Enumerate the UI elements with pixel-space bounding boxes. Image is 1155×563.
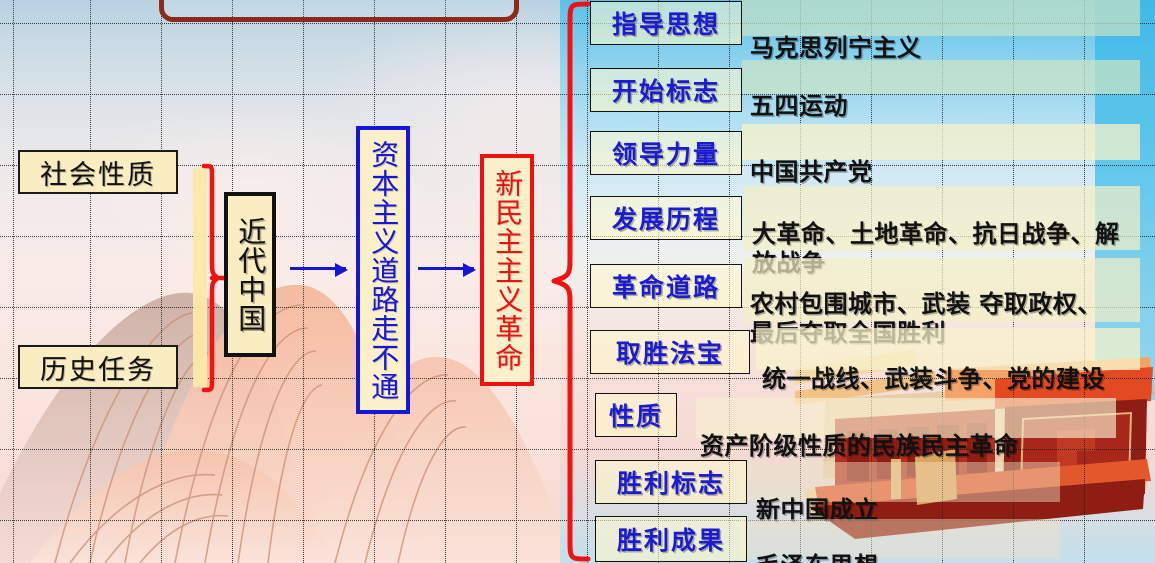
node-capitalism-label: 资本主义道路走不通 bbox=[369, 140, 398, 401]
row-label-text: 开始标志 bbox=[612, 72, 720, 108]
row-label-6[interactable]: 性质 bbox=[595, 393, 677, 437]
left-red-brace bbox=[186, 162, 226, 394]
node-revolution-label: 新民主主义革命 bbox=[493, 169, 522, 372]
row-label-text: 取胜法宝 bbox=[616, 334, 724, 370]
node-new-democratic-revolution[interactable]: 新民主主义革命 bbox=[480, 154, 534, 386]
node-modern-china-label: 近代中国 bbox=[236, 217, 265, 333]
row-content-1: 五四运动 bbox=[750, 64, 1140, 121]
row-label-7[interactable]: 胜利标志 bbox=[595, 460, 747, 504]
left-item-label: 历史任务 bbox=[40, 348, 156, 387]
row-label-text: 胜利成果 bbox=[617, 521, 725, 557]
top-cropped-rounded-box bbox=[159, 0, 519, 22]
node-capitalism-road-blocked[interactable]: 资本主义道路走不通 bbox=[356, 126, 410, 414]
arrow-capitalism-to-revolution bbox=[418, 267, 474, 270]
row-label-5[interactable]: 取胜法宝 bbox=[590, 330, 750, 374]
row-label-0[interactable]: 指导思想 bbox=[590, 1, 742, 45]
row-label-text: 胜利标志 bbox=[617, 464, 725, 500]
left-item-label: 社会性质 bbox=[40, 153, 156, 192]
arrow-modern-to-capitalism bbox=[290, 267, 346, 270]
mountain-illustration bbox=[0, 233, 560, 563]
row-content-0: 马克思列宁主义 bbox=[750, 6, 1140, 63]
row-content-2: 中国共产党 bbox=[750, 130, 1140, 187]
row-label-2[interactable]: 领导力量 bbox=[590, 131, 742, 175]
row-label-4[interactable]: 革命道路 bbox=[590, 264, 742, 308]
row-label-text: 性质 bbox=[609, 397, 663, 433]
row-label-text: 指导思想 bbox=[612, 5, 720, 41]
row-label-1[interactable]: 开始标志 bbox=[590, 68, 742, 112]
row-content-5: 统一战线、武装斗争、党的建设 bbox=[762, 337, 1146, 394]
left-item-social-nature[interactable]: 社会性质 bbox=[18, 150, 178, 194]
row-label-text: 革命道路 bbox=[612, 268, 720, 304]
row-label-8[interactable]: 胜利成果 bbox=[595, 516, 747, 562]
slide-canvas: 社会性质 历史任务 近代中国 资本主义道路走不通 新民主主义革命 指导思想 马克… bbox=[0, 0, 1155, 563]
row-content-6: 资产阶级性质的民族民主革命 bbox=[700, 404, 1130, 461]
row-content-7: 新中国成立 bbox=[756, 468, 1086, 525]
row-content-8: 毛泽东思想 bbox=[756, 524, 1086, 563]
left-item-historical-task[interactable]: 历史任务 bbox=[18, 345, 178, 389]
node-modern-china[interactable]: 近代中国 bbox=[224, 192, 276, 357]
row-label-3[interactable]: 发展历程 bbox=[590, 196, 742, 240]
row-label-text: 发展历程 bbox=[612, 200, 720, 236]
right-red-brace bbox=[548, 0, 594, 563]
row-label-text: 领导力量 bbox=[612, 135, 720, 171]
